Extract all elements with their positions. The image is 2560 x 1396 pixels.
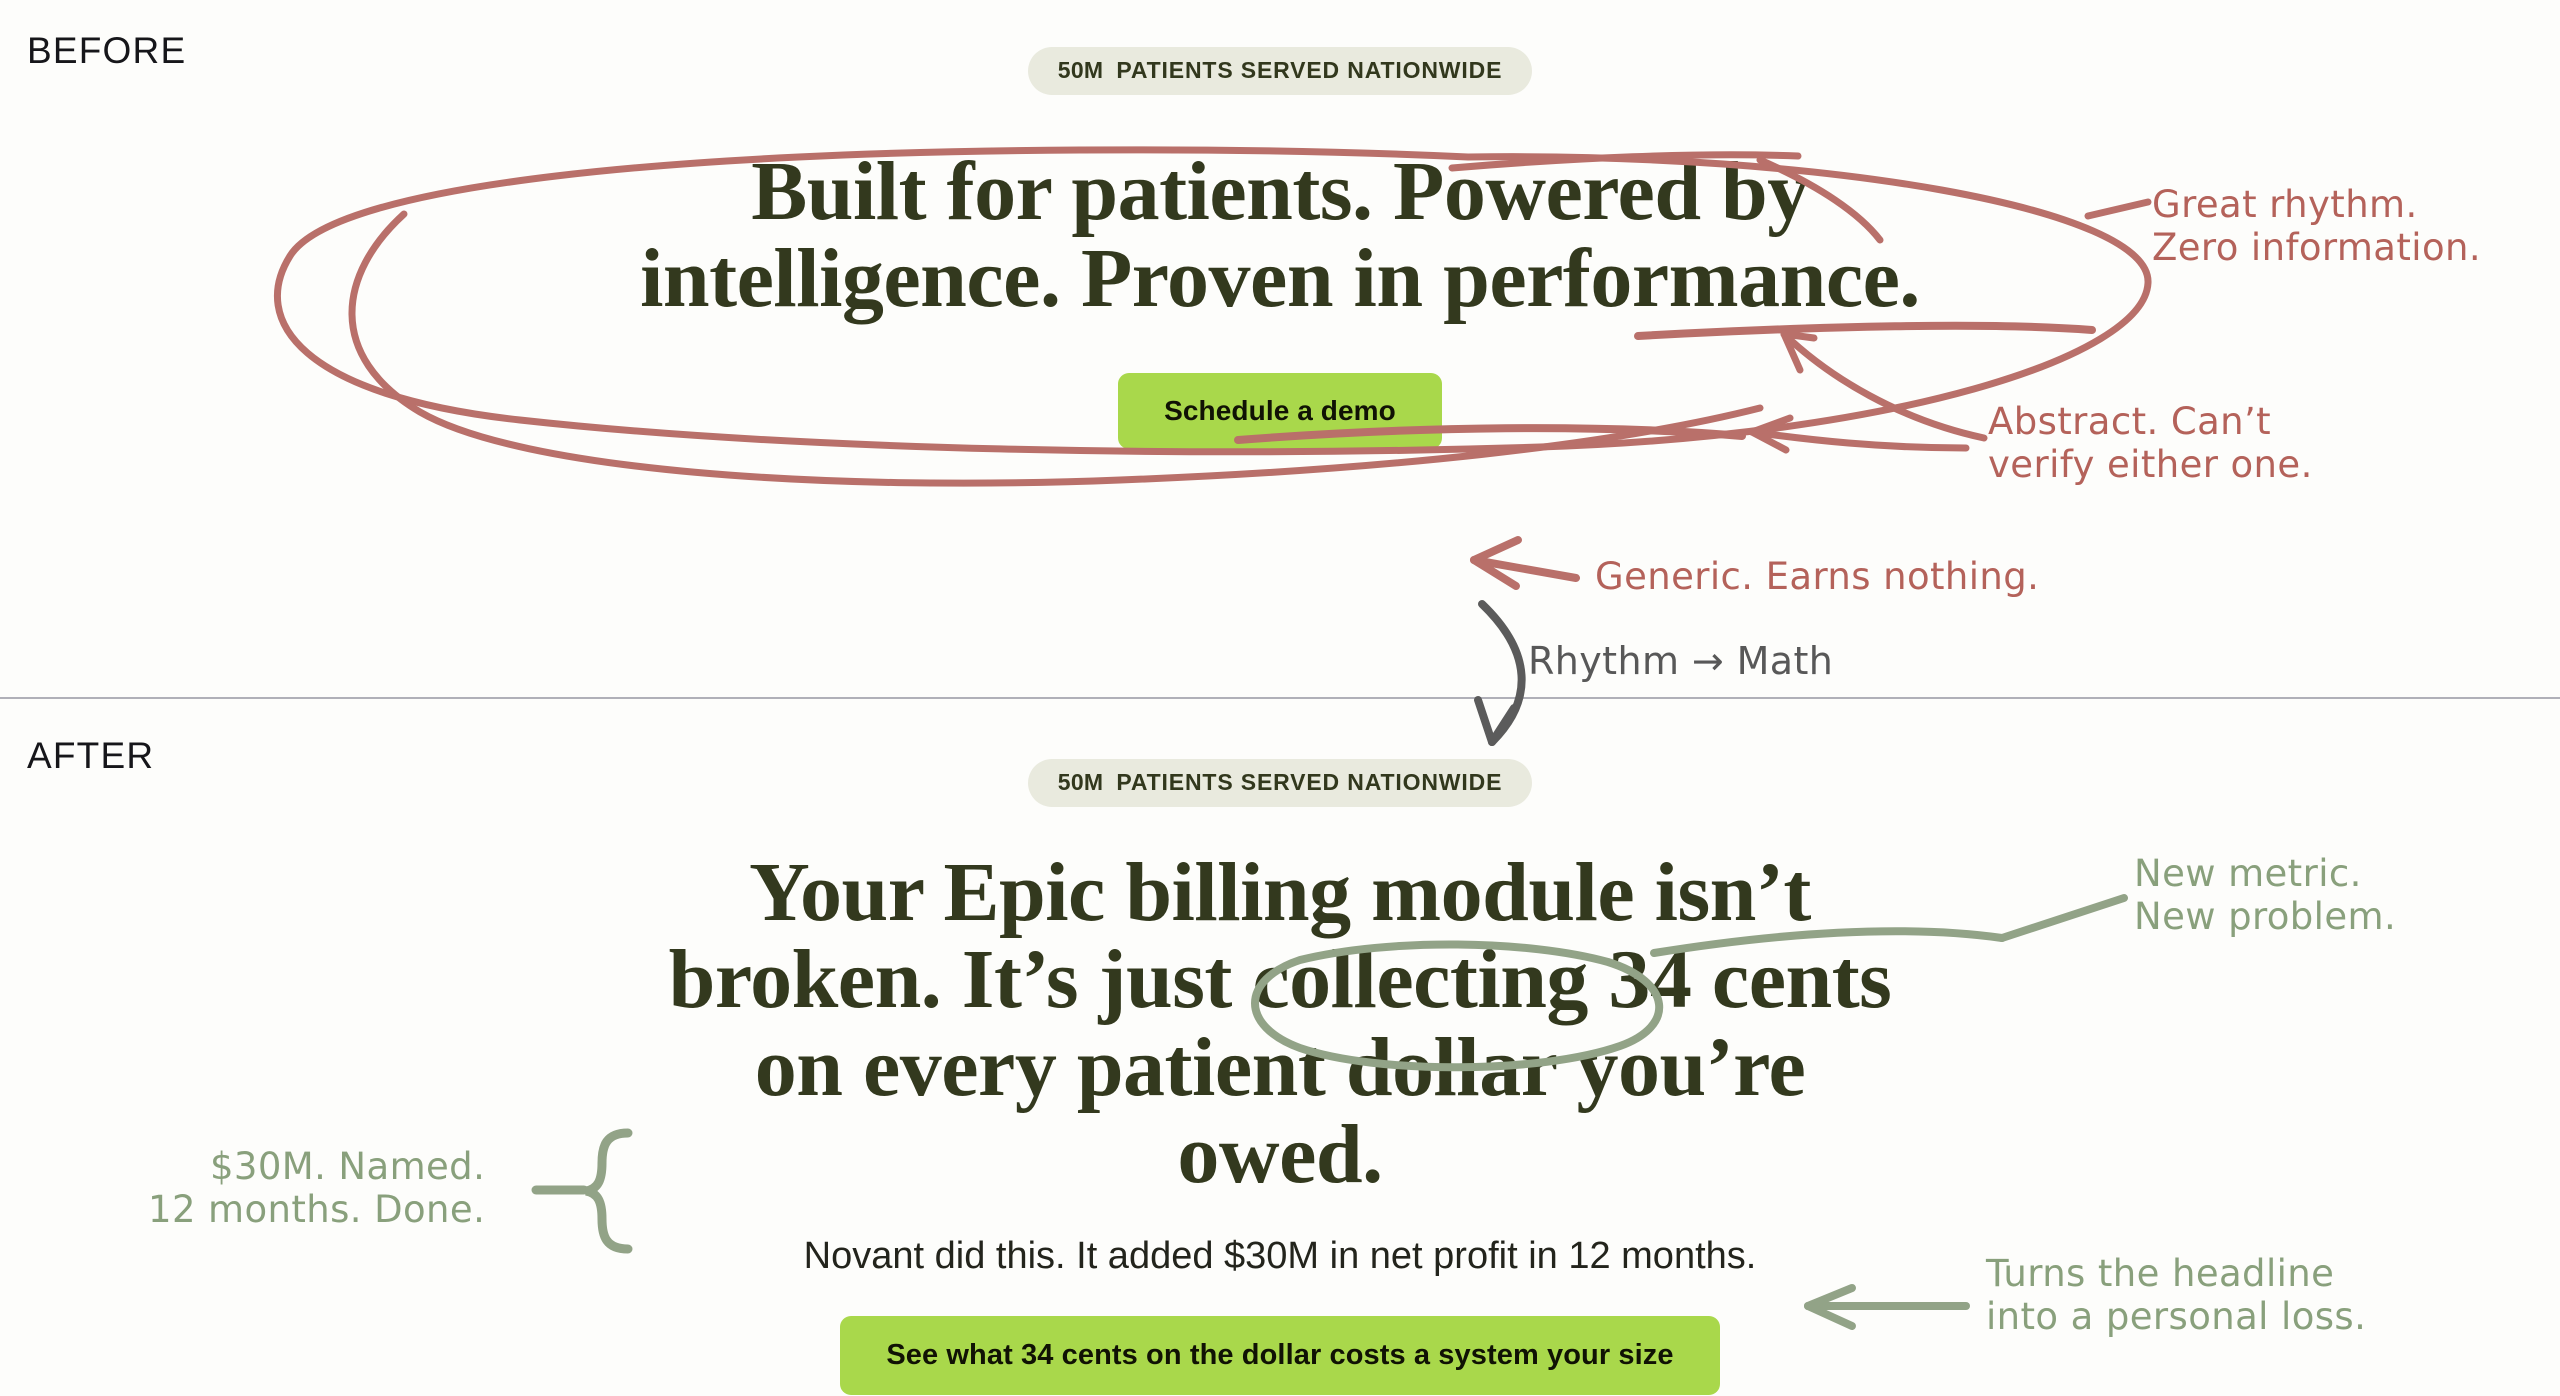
after-badge-label: PATIENTS SERVED NATIONWIDE [1116, 771, 1502, 794]
after-badge-number: 50M [1058, 771, 1104, 794]
before-hero-panel: 50M PATIENTS SERVED NATIONWIDE Built for… [0, 0, 2560, 697]
after-headline: Your Epic billing module isn’t broken. I… [660, 849, 1900, 1198]
annotation-new-metric: New metric. New problem. [2134, 852, 2396, 939]
schedule-demo-button[interactable]: Schedule a demo [1118, 373, 1442, 449]
see-cost-button[interactable]: See what 34 cents on the dollar costs a … [840, 1316, 1719, 1395]
before-headline: Built for patients. Powered by intellige… [630, 148, 1930, 323]
annotation-turns-headline: Turns the headline into a personal loss. [1986, 1252, 2366, 1339]
annotation-rhythm-to-math: Rhythm → Math [1528, 639, 1833, 683]
before-eyebrow-badge: 50M PATIENTS SERVED NATIONWIDE [1028, 47, 1533, 95]
annotation-abstract: Abstract. Can’t verify either one. [1988, 400, 2313, 487]
annotation-great-rhythm: Great rhythm. Zero information. [2152, 183, 2481, 270]
annotation-generic: Generic. Earns nothing. [1595, 555, 2039, 598]
after-headline-part-2: on every patient dollar you’re owed. [755, 1021, 1805, 1201]
comparison-canvas: BEFORE 50M PATIENTS SERVED NATIONWIDE Bu… [0, 0, 2560, 1396]
after-headline-circled-metric: 34 cents [1608, 933, 1891, 1026]
annotation-thirty-million: $30M. Named. 12 months. Done. [148, 1145, 485, 1232]
before-badge-label: PATIENTS SERVED NATIONWIDE [1116, 59, 1502, 82]
after-eyebrow-badge: 50M PATIENTS SERVED NATIONWIDE [1028, 759, 1533, 807]
before-headline-line-2: Proven in performance. [1081, 232, 1920, 325]
before-badge-number: 50M [1058, 59, 1104, 82]
